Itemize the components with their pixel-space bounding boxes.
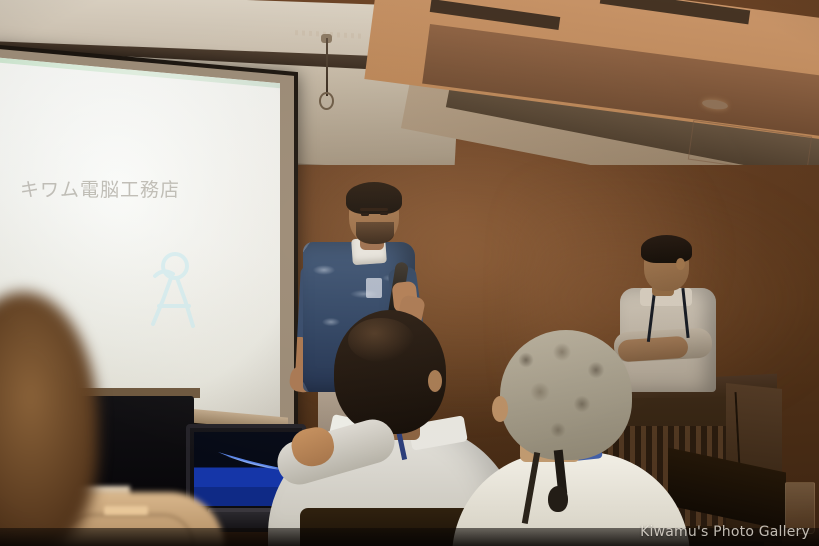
presenter-brow: [360, 208, 388, 211]
slide-title-text: キワム電脳工務店: [20, 175, 180, 202]
photo-watermark: Kiwamu's Photo Gallery: [640, 524, 810, 540]
man-in-white-polo-ear: [676, 258, 685, 270]
audience-ear: [428, 370, 442, 392]
audience-member-gray-hair-head: [500, 330, 632, 460]
audience-hair-highlight: [348, 318, 414, 362]
audience-gray-ear: [492, 396, 508, 422]
presenter-badge: [366, 278, 382, 298]
pull-cord-ring[interactable]: [319, 92, 334, 110]
conference-presentation-photo: キワム電脳工務店: [0, 0, 819, 546]
camera-strap-clasp: [548, 486, 568, 512]
pull-cord-ring-icon[interactable]: [326, 38, 328, 96]
person-mascot-outline-icon: [133, 250, 211, 338]
man-in-white-polo-hair: [641, 235, 692, 263]
presenter-eye-right: [380, 212, 388, 215]
foreground-bag-tab: [104, 506, 148, 515]
presenter-beard: [356, 222, 394, 244]
presenter-eye-left: [361, 213, 369, 216]
